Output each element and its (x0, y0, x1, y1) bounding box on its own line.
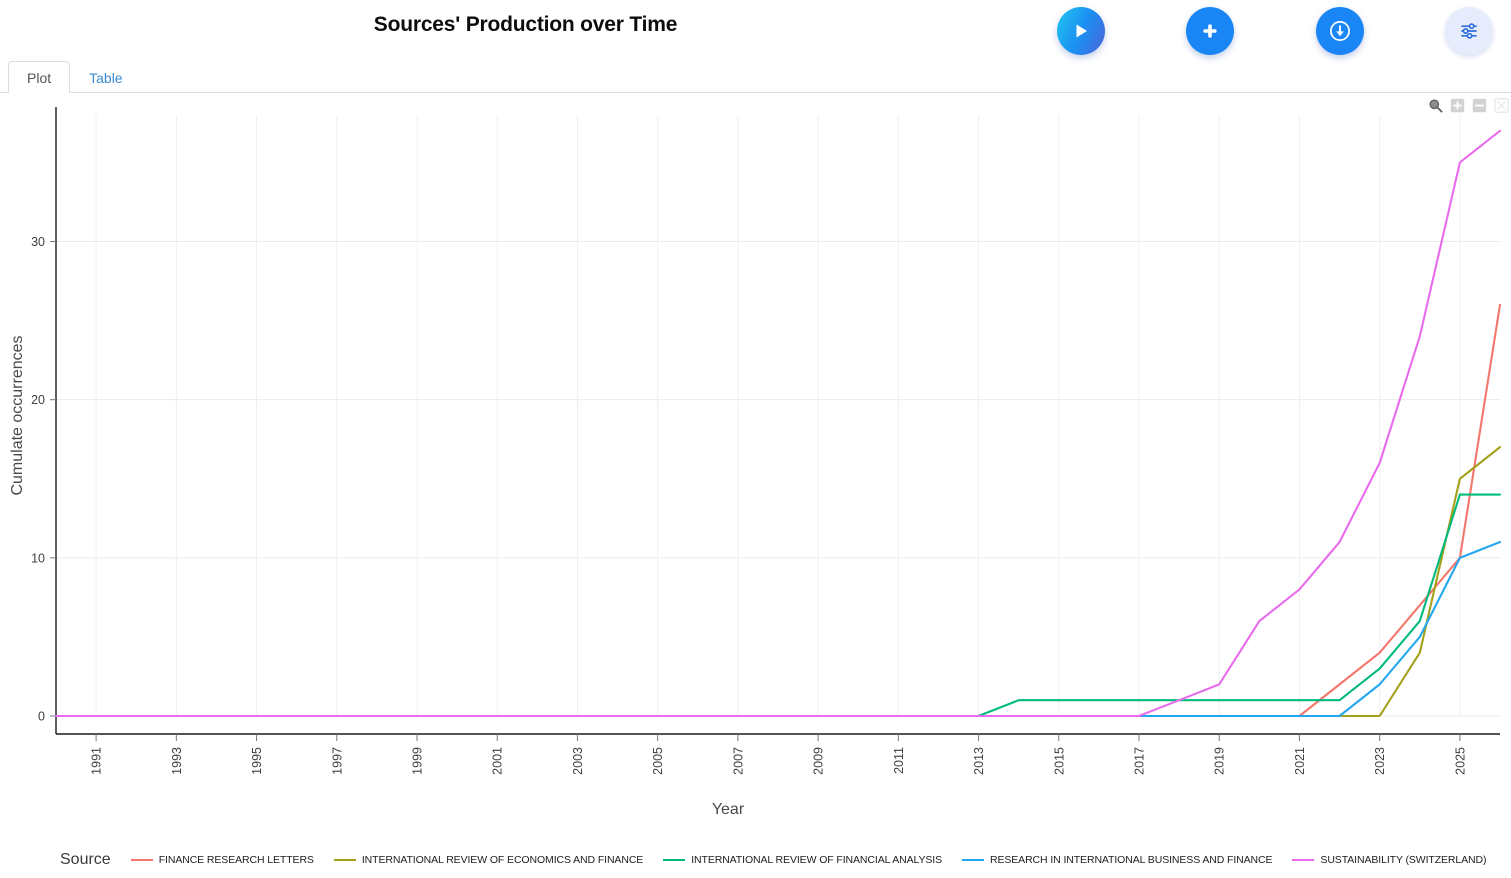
plot-area: 0102030199119931995199719992001200320052… (0, 93, 1511, 878)
legend-item-label: INTERNATIONAL REVIEW OF ECONOMICS AND FI… (362, 854, 643, 866)
legend-title: Source (60, 851, 111, 869)
series-line (56, 447, 1500, 716)
legend-swatch-icon (663, 859, 685, 861)
legend-item-sustainability-switzerland[interactable]: SUSTAINABILITY (SWITZERLAND) (1292, 854, 1486, 866)
series-line (56, 495, 1500, 716)
chart-legend: Source FINANCE RESEARCH LETTERS INTERNAT… (0, 842, 1511, 878)
x-tick-label: 1993 (170, 747, 184, 775)
series-line (56, 131, 1500, 716)
play-icon (1071, 21, 1091, 41)
view-tabs: Plot Table (0, 56, 1511, 93)
y-tick-label: 10 (31, 551, 45, 565)
run-button[interactable] (1057, 7, 1105, 55)
legend-item-research-in-international-business-and-finance[interactable]: RESEARCH IN INTERNATIONAL BUSINESS AND F… (962, 854, 1272, 866)
y-tick-label: 20 (31, 393, 45, 407)
download-button[interactable] (1316, 7, 1364, 55)
x-tick-label: 2009 (812, 747, 826, 775)
tab-table[interactable]: Table (70, 61, 141, 93)
legend-item-international-review-of-financial-analysis[interactable]: INTERNATIONAL REVIEW OF FINANCIAL ANALYS… (663, 854, 942, 866)
line-chart[interactable]: 0102030199119931995199719992001200320052… (0, 93, 1511, 843)
legend-item-label: INTERNATIONAL REVIEW OF FINANCIAL ANALYS… (691, 854, 942, 866)
x-tick-label: 1999 (411, 747, 425, 775)
x-tick-label: 1997 (330, 747, 344, 775)
tab-plot[interactable]: Plot (8, 61, 70, 93)
page-title: Sources' Production over Time (0, 13, 1051, 37)
legend-swatch-icon (334, 859, 356, 861)
x-tick-label: 2015 (1052, 747, 1066, 775)
legend-item-international-review-of-economics-and-finance[interactable]: INTERNATIONAL REVIEW OF ECONOMICS AND FI… (334, 854, 643, 866)
legend-item-label: FINANCE RESEARCH LETTERS (159, 854, 314, 866)
x-axis-label: Year (712, 801, 745, 818)
x-tick-label: 1995 (250, 747, 264, 775)
settings-button[interactable] (1445, 7, 1493, 55)
y-tick-label: 0 (38, 710, 45, 724)
x-tick-label: 2001 (491, 747, 505, 775)
series-line (56, 542, 1500, 716)
download-circle-icon (1328, 19, 1352, 43)
x-tick-label: 2011 (892, 747, 906, 774)
x-tick-label: 2003 (571, 747, 585, 775)
legend-item-label: RESEARCH IN INTERNATIONAL BUSINESS AND F… (990, 854, 1272, 866)
x-tick-label: 2013 (972, 747, 986, 775)
x-tick-label: 2019 (1213, 747, 1227, 775)
y-axis-label: Cumulate occurrences (9, 335, 26, 495)
legend-item-finance-research-letters[interactable]: FINANCE RESEARCH LETTERS (131, 854, 314, 866)
legend-swatch-icon (962, 859, 984, 861)
legend-swatch-icon (1292, 859, 1314, 861)
add-button[interactable] (1186, 7, 1234, 55)
plus-icon (1200, 21, 1220, 41)
x-tick-label: 2021 (1293, 747, 1307, 775)
series-line (56, 305, 1500, 716)
sliders-icon (1458, 20, 1480, 42)
x-tick-label: 2025 (1453, 747, 1467, 775)
x-tick-label: 1991 (90, 747, 104, 775)
x-tick-label: 2005 (651, 747, 665, 775)
x-tick-label: 2007 (731, 747, 745, 775)
y-tick-label: 30 (31, 235, 45, 249)
app-header: Sources' Production over Time (0, 0, 1511, 56)
x-tick-label: 2023 (1373, 747, 1387, 775)
legend-item-label: SUSTAINABILITY (SWITZERLAND) (1320, 854, 1486, 866)
sources-production-app: Sources' Production over Time (0, 0, 1511, 878)
legend-swatch-icon (131, 859, 153, 861)
x-tick-label: 2017 (1133, 747, 1147, 775)
